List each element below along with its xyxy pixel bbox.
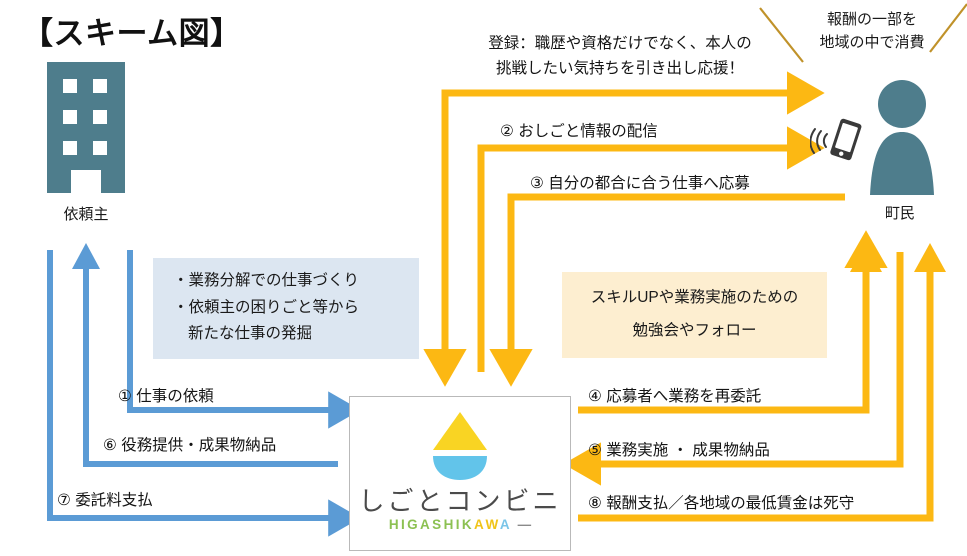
actor-label-client: 依頼主 xyxy=(36,203,136,224)
smartphone-icon xyxy=(810,112,866,168)
note-blue-line1: ・業務分解での仕事づくり xyxy=(173,268,419,295)
label-step4: ④ 応募者へ業務を再委託 xyxy=(588,385,761,408)
callout-line-1: 報酬の一部を xyxy=(797,8,947,31)
label-step5: ⑤ 業務実施 ・ 成果物納品 xyxy=(588,439,770,462)
label-step6: ⑥ 役務提供・成果物納品 xyxy=(103,434,276,457)
note-yellow-line1: スキルUPや業務実施のための xyxy=(591,282,799,315)
actor-label-citizen: 町民 xyxy=(855,202,945,223)
page-title: 【スキーム図】 xyxy=(22,8,242,53)
logo-en-part-2: AW xyxy=(474,517,500,532)
office-building-icon xyxy=(47,62,125,193)
logo-text-en: HIGASHIKAWA — xyxy=(350,517,570,532)
note-box-skill-up: スキルUPや業務実施のための 勉強会やフォロー xyxy=(562,272,827,358)
logo-en-part-1: HIGASHIK xyxy=(389,517,474,532)
note-blue-line2: ・依頼主の困りごと等から xyxy=(173,295,419,322)
label-registration: 登録：職歴や資格だけでなく、本人の 挑戦したい気持ちを引き出し応援！ xyxy=(440,31,800,81)
label-step2: ② おしごと情報の配信 xyxy=(500,120,658,143)
label-step3: ③ 自分の都合に合う仕事へ応募 xyxy=(530,172,750,195)
logo-en-dash: — xyxy=(518,517,532,532)
label-step7: ⑦ 委託料支払 xyxy=(57,489,153,512)
consumption-callout: 報酬の一部を 地域の中で消費 xyxy=(797,8,947,55)
shigoto-convenience-logo-card: しごとコンビニ HIGASHIKAWA — xyxy=(349,396,571,551)
logo-text-jp: しごとコンビニ xyxy=(350,481,570,518)
label-registration-line1: 登録：職歴や資格だけでなく、本人の xyxy=(440,31,800,56)
logo-en-part-3: A xyxy=(500,517,512,532)
droplet-logo-icon xyxy=(429,410,491,482)
label-step8: ⑧ 報酬支払／各地域の最低賃金は死守 xyxy=(588,492,854,515)
label-step1: ① 仕事の依頼 xyxy=(118,385,214,408)
callout-line-2: 地域の中で消費 xyxy=(797,31,947,54)
note-yellow-line2: 勉強会やフォロー xyxy=(632,315,756,348)
label-registration-line2: 挑戦したい気持ちを引き出し応援！ xyxy=(440,56,800,81)
note-blue-line3: 新たな仕事の発掘 xyxy=(173,321,419,348)
person-icon xyxy=(862,80,942,195)
note-box-job-creation: ・業務分解での仕事づくり ・依頼主の困りごと等から 新たな仕事の発掘 xyxy=(153,258,419,359)
